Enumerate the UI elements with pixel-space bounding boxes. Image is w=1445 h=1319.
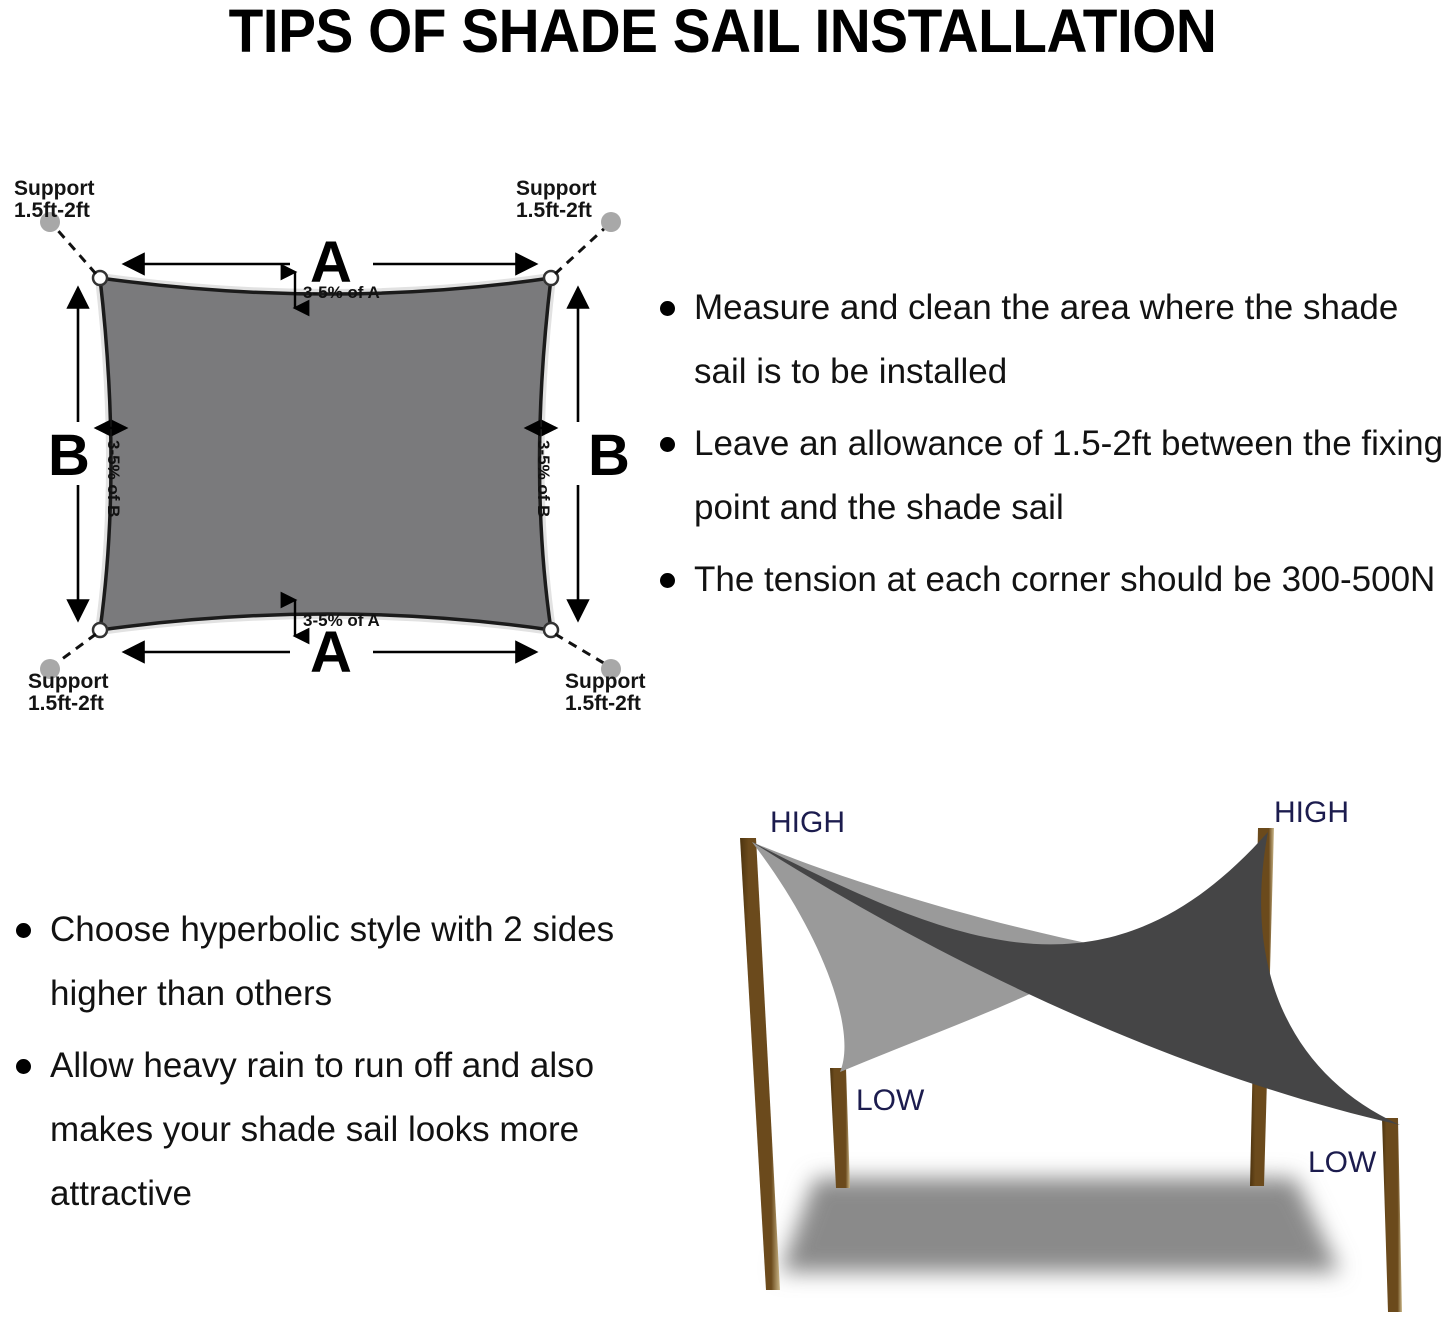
support-label-bottom-left-line1: Support (28, 670, 108, 693)
support-label-top-left-line1: Support (14, 177, 94, 200)
curvature-label-left: 3-5% of B (104, 440, 123, 517)
list-item: Measure and clean the area where the sha… (648, 276, 1445, 404)
rectangular-sail-diagram: Support 1.5ft-2ft Support 1.5ft-2ft Supp… (0, 160, 660, 730)
support-line-bottom-left (54, 634, 96, 665)
support-label-top-right-line1: Support (516, 177, 596, 200)
page-title: TIPS OF SHADE SAIL INSTALLATION (51, 0, 1395, 66)
dimension-label-height-right: B (588, 423, 630, 488)
dimension-label-height-left: B (48, 423, 90, 488)
curvature-label-bottom: 3-5% of A (303, 611, 380, 630)
post-label-low-left: LOW (856, 1084, 925, 1117)
post-label-high-right: HIGH (1274, 796, 1349, 829)
installation-tips-list-bottom: Choose hyperbolic style with 2 sides hig… (4, 898, 624, 1234)
support-dot-top-right (601, 212, 621, 232)
support-label-top-left-line2: 1.5ft-2ft (14, 199, 90, 222)
list-item: Allow heavy rain to run off and also mak… (4, 1034, 624, 1226)
support-label-bottom-right-line2: 1.5ft-2ft (565, 692, 641, 715)
list-item: Leave an allowance of 1.5-2ft between th… (648, 412, 1445, 540)
hyperbolic-sail-diagram: HIGH HIGH LOW LOW (640, 780, 1445, 1319)
list-item: The tension at each corner should be 300… (648, 548, 1445, 612)
post-label-high-left: HIGH (770, 806, 845, 839)
support-label-bottom-right-line1: Support (565, 670, 645, 693)
support-line-top-left (54, 226, 96, 274)
shade-sail-body (100, 278, 551, 630)
support-label-top-right-line2: 1.5ft-2ft (516, 199, 592, 222)
post-high-left (740, 838, 780, 1290)
post-label-low-right: LOW (1308, 1146, 1377, 1179)
ground-shadow (780, 1178, 1340, 1272)
support-line-top-right (555, 226, 607, 274)
curvature-label-right: 3-5% of B (534, 440, 553, 517)
support-line-bottom-right (555, 634, 607, 665)
curvature-label-top: 3-5% of A (303, 283, 380, 302)
infographic-page: TIPS OF SHADE SAIL INSTALLATION (0, 0, 1445, 1319)
support-label-bottom-left-line2: 1.5ft-2ft (28, 692, 104, 715)
post-low-right (1382, 1118, 1402, 1312)
installation-tips-list-right: Measure and clean the area where the sha… (648, 276, 1445, 620)
post-low-left (830, 1068, 850, 1188)
list-item: Choose hyperbolic style with 2 sides hig… (4, 898, 624, 1026)
